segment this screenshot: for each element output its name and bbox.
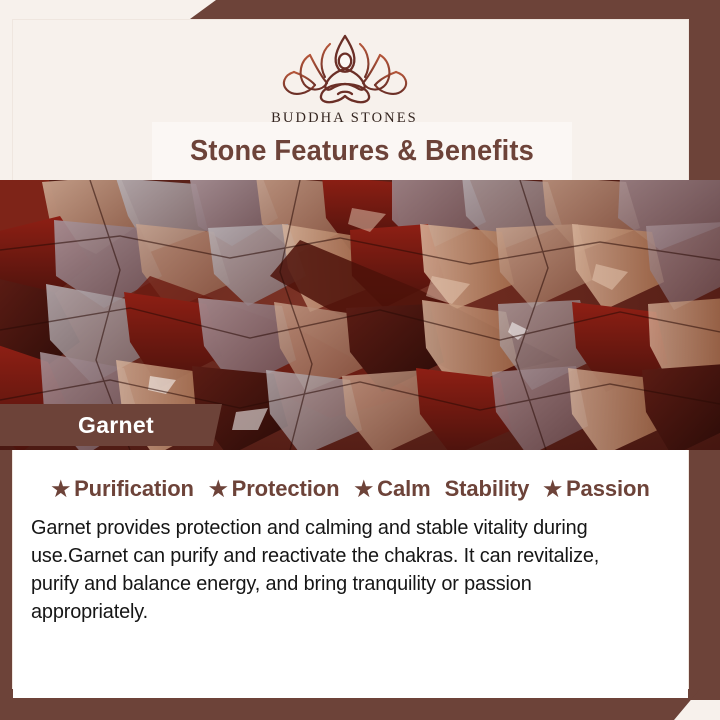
feature-stability: ★ Stability bbox=[445, 476, 530, 502]
feature-label: Stability bbox=[445, 476, 530, 502]
star-icon: ★ bbox=[543, 479, 562, 500]
feature-label: Passion bbox=[566, 476, 650, 502]
star-icon: ★ bbox=[51, 479, 70, 500]
star-icon: ★ bbox=[209, 479, 228, 500]
stone-name: Garnet bbox=[78, 412, 154, 439]
title-panel: Stone Features & Benefits bbox=[152, 122, 572, 180]
feature-purification: ★ Purification bbox=[51, 476, 194, 502]
feature-label: Protection bbox=[232, 476, 340, 502]
feature-label: Purification bbox=[74, 476, 194, 502]
star-icon: ★ bbox=[354, 479, 373, 500]
feature-protection: ★ Protection bbox=[209, 476, 340, 502]
page-title: Stone Features & Benefits bbox=[190, 135, 534, 168]
stone-name-banner: Garnet bbox=[0, 404, 222, 446]
left-decorative-strip bbox=[0, 437, 12, 720]
feature-passion: ★ Passion bbox=[543, 476, 649, 502]
stone-description: Garnet provides protection and calming a… bbox=[31, 514, 651, 626]
top-decorative-banner bbox=[190, 0, 720, 19]
features-row: ★ Purification ★ Protection ★ Calm ★ Sta… bbox=[31, 476, 670, 502]
infographic-page: BUDDHA STONES Stone Features & Benefits bbox=[0, 0, 720, 720]
feature-calm: ★ Calm bbox=[354, 476, 430, 502]
content-panel: ★ Purification ★ Protection ★ Calm ★ Sta… bbox=[13, 450, 688, 698]
feature-label: Calm bbox=[377, 476, 430, 502]
lotus-meditation-icon bbox=[270, 30, 420, 108]
